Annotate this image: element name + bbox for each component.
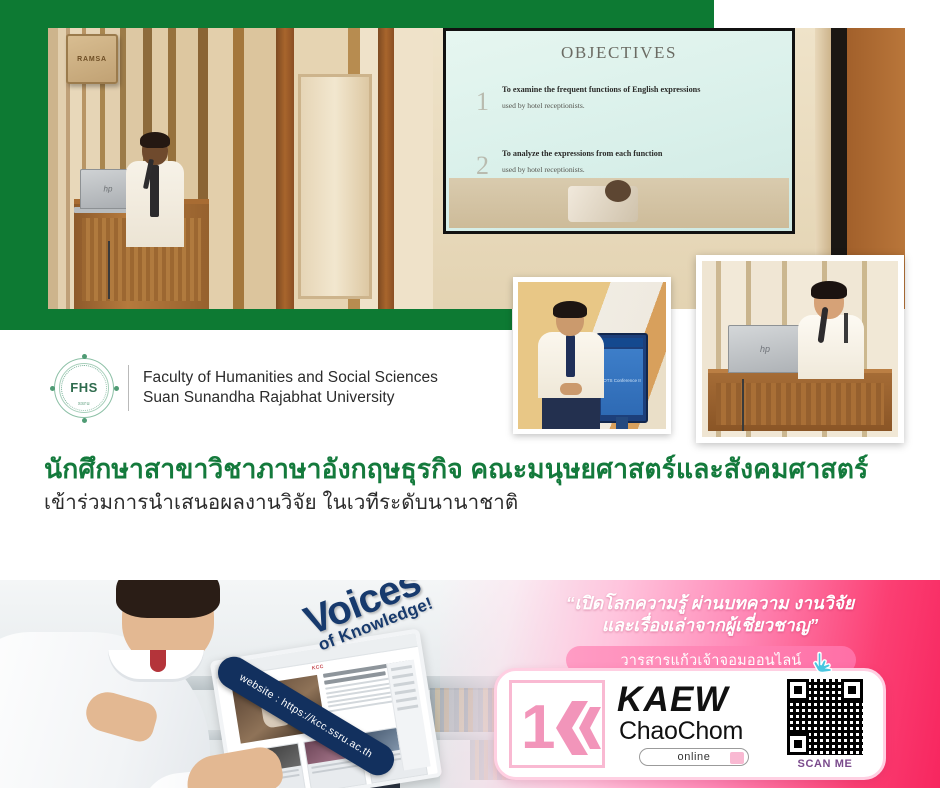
laptop-brand-label: hp	[104, 185, 113, 194]
pointer-hand-icon	[810, 650, 840, 682]
inset-photo-podium: hp	[696, 255, 904, 443]
microphone-cable	[108, 241, 110, 299]
speaker-brand-label: RAMSA	[77, 56, 107, 63]
presenter-figure	[798, 285, 864, 379]
green-band-top	[0, 0, 714, 28]
objective-number: 2	[476, 153, 489, 179]
microphone-stand-icon	[844, 313, 848, 343]
fhs-logo-mark: FHS	[48, 380, 120, 395]
inset-photo-kiosk: OTS Conference II	[513, 277, 671, 434]
projector-screen: OBJECTIVES 1 To examine the frequent fun…	[443, 28, 795, 234]
quote-line-2: และเรื่องเล่าจากผู้เชี่ยวชาญ”	[510, 614, 910, 636]
top-hero-section: RAMSA hp OBJECT	[0, 0, 940, 580]
fhs-logo-sub: ssru	[48, 401, 120, 407]
kcc-logo-mark: 1	[509, 680, 605, 768]
ceiling-speaker: RAMSA	[66, 34, 118, 84]
headline-block: นักศึกษาสาขาวิชาภาษาอังกฤษธุรกิจ คณะมนุษ…	[44, 452, 924, 517]
microphone-cable	[742, 379, 744, 431]
qr-code-image[interactable]	[787, 679, 863, 755]
fhs-seal-logo: FHS ssru	[48, 352, 120, 424]
identity-divider	[128, 365, 129, 411]
objective-line-2: used by hotel receptionists.	[502, 165, 774, 174]
slide-title: OBJECTIVES	[446, 43, 792, 63]
brand-line-1: KAEW	[617, 682, 781, 717]
objective-number: 1	[476, 89, 489, 115]
laptop-brand-label: hp	[760, 344, 770, 354]
wood-column	[276, 28, 294, 309]
qr-code-block[interactable]: SCAN ME	[781, 679, 869, 770]
kiosk-screen-label: OTS Conference II	[601, 378, 643, 383]
objective-line-2: used by hotel receptionists.	[502, 101, 774, 110]
objective-line-1: To analyze the expressions from each fun…	[502, 149, 774, 158]
objective-line-1: To examine the frequent functions of Eng…	[502, 85, 774, 94]
institution-identity: FHS ssru Faculty of Humanities and Socia…	[48, 352, 438, 424]
journal-brand-card[interactable]: 1 KAEW ChaoChom online SCAN ME	[494, 668, 886, 780]
online-label: online	[678, 751, 711, 763]
quote-line-1: “เปิดโลกความรู้ ผ่านบทความ งานวิจัย	[510, 592, 910, 614]
online-badge: online	[639, 748, 749, 766]
banner-quote: “เปิดโลกความรู้ ผ่านบทความ งานวิจัย และเ…	[510, 592, 910, 637]
slide-footer-photo	[449, 178, 789, 228]
scan-me-label: SCAN ME	[781, 758, 869, 770]
headline-primary: นักศึกษาสาขาวิชาภาษาอังกฤษธุรกิจ คณะมนุษ…	[44, 452, 924, 486]
faculty-name: Faculty of Humanities and Social Science…	[143, 368, 438, 388]
laptop: hp	[728, 325, 802, 373]
slide-objective-2: 2 To analyze the expressions from each f…	[476, 149, 774, 174]
headline-secondary: เข้าร่วมการนำเสนอผลงานวิจัย ในเวทีระดับน…	[44, 490, 924, 517]
wall-panel	[298, 74, 372, 299]
presenter-figure	[126, 135, 184, 247]
slide-objective-1: 1 To examine the frequent functions of E…	[476, 85, 774, 110]
university-name: Suan Sunandha Rajabhat University	[143, 388, 438, 408]
wood-column	[378, 28, 394, 309]
logo-double-chevron-icon	[550, 701, 602, 755]
brand-line-2: ChaoChom	[619, 718, 781, 746]
student-figure	[538, 305, 604, 429]
